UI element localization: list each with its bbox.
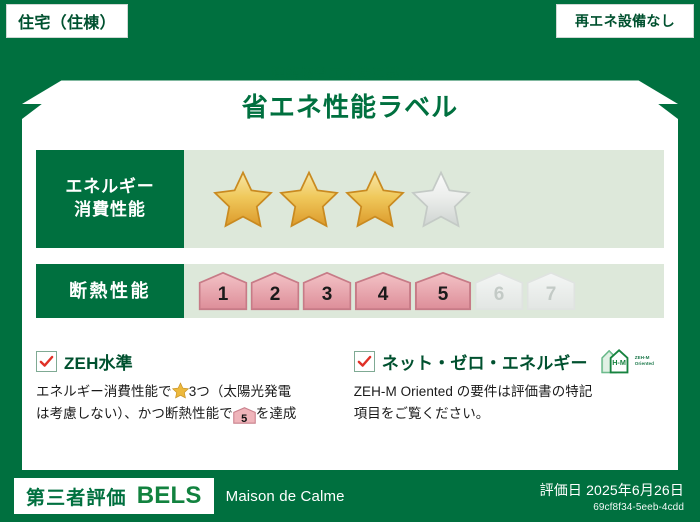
zeh-m-logo-caption: ZEH-M Oriented	[635, 355, 654, 366]
third-party-evaluation-label: 第三者評価	[26, 483, 127, 510]
zeh-body-line2-part1: は考慮しない）、かつ断熱性能で	[36, 406, 233, 421]
insulation-level-value: 1	[218, 285, 229, 308]
zeh-m-caption-line1: ZEH-M	[635, 355, 650, 360]
check-icon	[36, 351, 57, 372]
gold-star-icon	[172, 382, 189, 399]
zeh-m-house-icon: H-M ZEH-M Oriented	[599, 348, 654, 374]
energy-label-line1: エネルギー	[65, 176, 154, 199]
zeh-standard-body: エネルギー消費性能で3つ（太陽光発電 は考慮しない）、かつ断熱性能で5を達成	[36, 381, 318, 425]
tag-housing-label: 住宅（住棟）	[18, 9, 116, 33]
insulation-label-text: 断熱性能	[69, 279, 151, 303]
insulation-level-badge: 6	[474, 271, 524, 311]
svg-text:H-M: H-M	[612, 358, 626, 367]
energy-performance-row: エネルギー 消費性能	[36, 150, 664, 248]
criteria-info-area: ZEH水準 エネルギー消費性能で3つ（太陽光発電 は考慮しない）、かつ断熱性能で…	[36, 348, 664, 446]
energy-star-rating	[184, 150, 664, 248]
insulation-level-scale: 1234567	[184, 264, 664, 318]
energy-performance-label: エネルギー 消費性能	[36, 150, 184, 248]
insulation-level-badge: 4	[354, 271, 412, 311]
check-icon	[354, 351, 375, 372]
star-filled-icon	[344, 169, 406, 229]
star-filled-icon	[212, 169, 274, 229]
net-zero-body-line1: ZEH-M Oriented の要件は評価書の特記	[354, 384, 593, 399]
zeh-standard-block: ZEH水準 エネルギー消費性能で3つ（太陽光発電 は考慮しない）、かつ断熱性能で…	[36, 348, 328, 446]
zeh-body-part2: 3つ（太陽光発電	[189, 384, 292, 399]
zeh-m-caption-line2: Oriented	[635, 361, 654, 366]
insulation-level-value: 2	[270, 285, 281, 308]
zeh-body-part1: エネルギー消費性能で	[36, 384, 172, 399]
insulation-level-value: 7	[546, 285, 557, 308]
tag-housing-type: 住宅（住棟）	[6, 4, 128, 38]
evaluation-date: 評価日 2025年6月26日	[540, 480, 684, 500]
title-subtitle: 建築物省エネ法に基づく	[0, 62, 700, 82]
energy-label-line2: 消費性能	[74, 199, 145, 222]
tag-renewable-label: 再エネ設備なし	[575, 11, 675, 31]
energy-performance-label: 住宅（住棟） 再エネ設備なし 建築物省エネ法に基づく 省エネ性能ラベル エネルギ…	[0, 0, 700, 522]
insulation-level-badge: 5	[414, 271, 472, 311]
insulation-level-value: 6	[494, 285, 505, 308]
insulation-level-badge: 2	[250, 271, 300, 311]
evaluation-id: 69cf8f34-5eeb-4cdd	[540, 502, 684, 513]
tag-renewable-equipment: 再エネ設備なし	[556, 4, 694, 38]
zeh-body-line2-part2: を達成	[256, 406, 297, 421]
net-zero-energy-block: ネット・ゼロ・エネルギー H-M ZEH-M Oriented	[328, 348, 664, 446]
insulation-performance-row: 断熱性能 1234567	[36, 264, 664, 318]
bottom-bar: 第三者評価 BELS Maison de Calme 評価日 2025年6月26…	[0, 470, 700, 522]
bels-plate: 第三者評価 BELS	[14, 478, 214, 514]
insulation-level-badge: 7	[526, 271, 576, 311]
net-zero-body-line2: 項目をご覧ください。	[354, 406, 490, 421]
evaluation-meta: 評価日 2025年6月26日 69cf8f34-5eeb-4cdd	[540, 480, 684, 513]
page-title: 建築物省エネ法に基づく 省エネ性能ラベル	[0, 62, 700, 124]
insulation-badge-inline-icon: 5	[233, 407, 256, 424]
insulation-performance-label: 断熱性能	[36, 264, 184, 318]
star-filled-icon	[278, 169, 340, 229]
title-main: 省エネ性能ラベル	[0, 87, 700, 124]
bels-logo-text: BELS	[137, 482, 202, 510]
building-name: Maison de Calme	[226, 488, 345, 505]
zeh-standard-title: ZEH水準	[64, 349, 133, 374]
insulation-level-value: 3	[322, 285, 333, 308]
net-zero-energy-title: ネット・ゼロ・エネルギー	[382, 349, 588, 374]
net-zero-energy-header: ネット・ゼロ・エネルギー H-M ZEH-M Oriented	[354, 348, 654, 374]
net-zero-energy-body: ZEH-M Oriented の要件は評価書の特記 項目をご覧ください。	[354, 381, 654, 425]
insulation-level-value: 5	[438, 285, 449, 308]
insulation-level-badge: 3	[302, 271, 352, 311]
star-empty-icon	[410, 169, 472, 229]
zeh-standard-header: ZEH水準	[36, 348, 318, 374]
insulation-level-value: 4	[378, 285, 389, 308]
zeh-badge-value: 5	[241, 413, 247, 425]
insulation-level-badge: 1	[198, 271, 248, 311]
